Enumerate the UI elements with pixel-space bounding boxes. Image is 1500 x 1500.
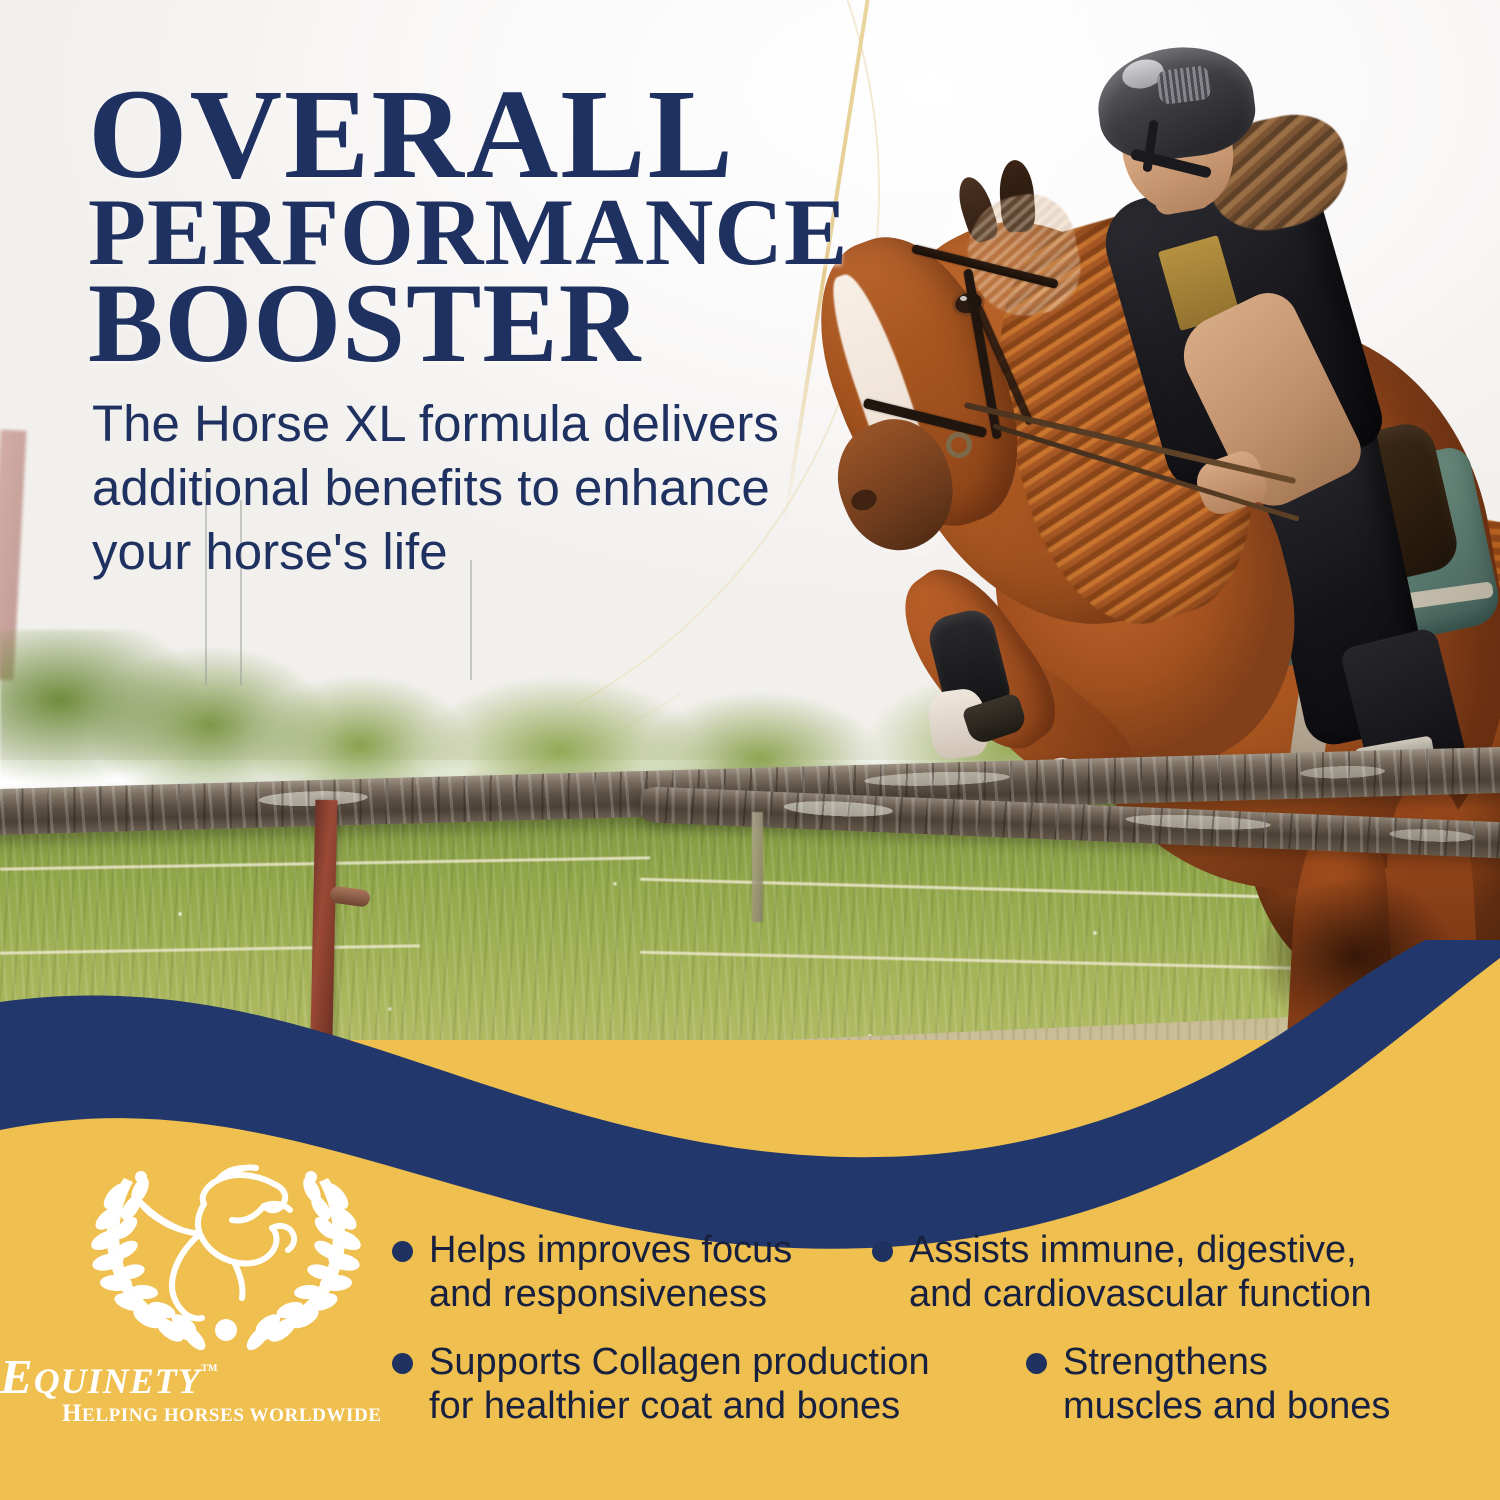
logo-wordmark: EQUINETY™ <box>0 1348 380 1405</box>
logo-wordmark-rest: QUINETY <box>34 1361 201 1401</box>
benefit-text: Strengthens muscles and bones <box>1063 1340 1390 1429</box>
logo-wordmark-initial: E <box>0 1349 34 1404</box>
fence-post <box>752 812 763 922</box>
logo-tagline-initial: H <box>62 1400 82 1427</box>
benefit-line: Helps improves focus <box>429 1229 792 1271</box>
benefit-text: Helps improves focus and responsiveness <box>429 1228 792 1317</box>
laurel-wreath-horse-icon <box>78 1162 374 1352</box>
subheadline: The Horse XL formula delivers additional… <box>92 392 852 583</box>
benefit-line: Assists immune, digestive, <box>909 1229 1357 1271</box>
benefit-line: and responsiveness <box>429 1273 767 1315</box>
benefit-line: Supports Collagen production <box>429 1341 930 1383</box>
bullet-dot-icon <box>392 1353 413 1374</box>
bullet-dot-icon <box>1026 1353 1047 1374</box>
benefit-line: for healthier coat and bones <box>429 1385 900 1427</box>
logo-tagline-rest: ELPING HORSES WORLDWIDE <box>82 1405 382 1426</box>
benefit-line: muscles and bones <box>1063 1385 1390 1427</box>
benefit-item-muscles: Strengthens muscles and bones <box>1026 1340 1456 1429</box>
bullet-dot-icon <box>392 1241 413 1262</box>
benefit-item-focus: Helps improves focus and responsiveness <box>392 1228 852 1317</box>
horse-eye-glint <box>960 296 967 301</box>
benefit-item-immune: Assists immune, digestive, and cardiovas… <box>872 1228 1472 1317</box>
benefit-item-collagen: Supports Collagen production for healthi… <box>392 1340 992 1429</box>
benefits-list: Helps improves focus and responsiveness … <box>392 1228 1472 1448</box>
logo-tagline: HELPING HORSES WORLDWIDE <box>62 1400 402 1428</box>
page-title: OVERALL PERFORMANCE BOOSTER <box>88 78 888 374</box>
benefit-line: Strengthens <box>1063 1341 1268 1383</box>
trademark-symbol: ™ <box>201 1361 218 1380</box>
bit-ring <box>946 432 972 458</box>
helmet-vent <box>1156 65 1212 105</box>
benefit-line: and cardiovascular function <box>909 1273 1372 1315</box>
headline-line-3: BOOSTER <box>88 274 888 373</box>
benefit-text: Assists immune, digestive, and cardiovas… <box>909 1228 1372 1317</box>
bullet-dot-icon <box>872 1241 893 1262</box>
headline-line-1: OVERALL <box>88 78 888 191</box>
product-infographic: OVERALL PERFORMANCE BOOSTER The Horse XL… <box>0 0 1500 1500</box>
benefit-text: Supports Collagen production for healthi… <box>429 1340 930 1429</box>
